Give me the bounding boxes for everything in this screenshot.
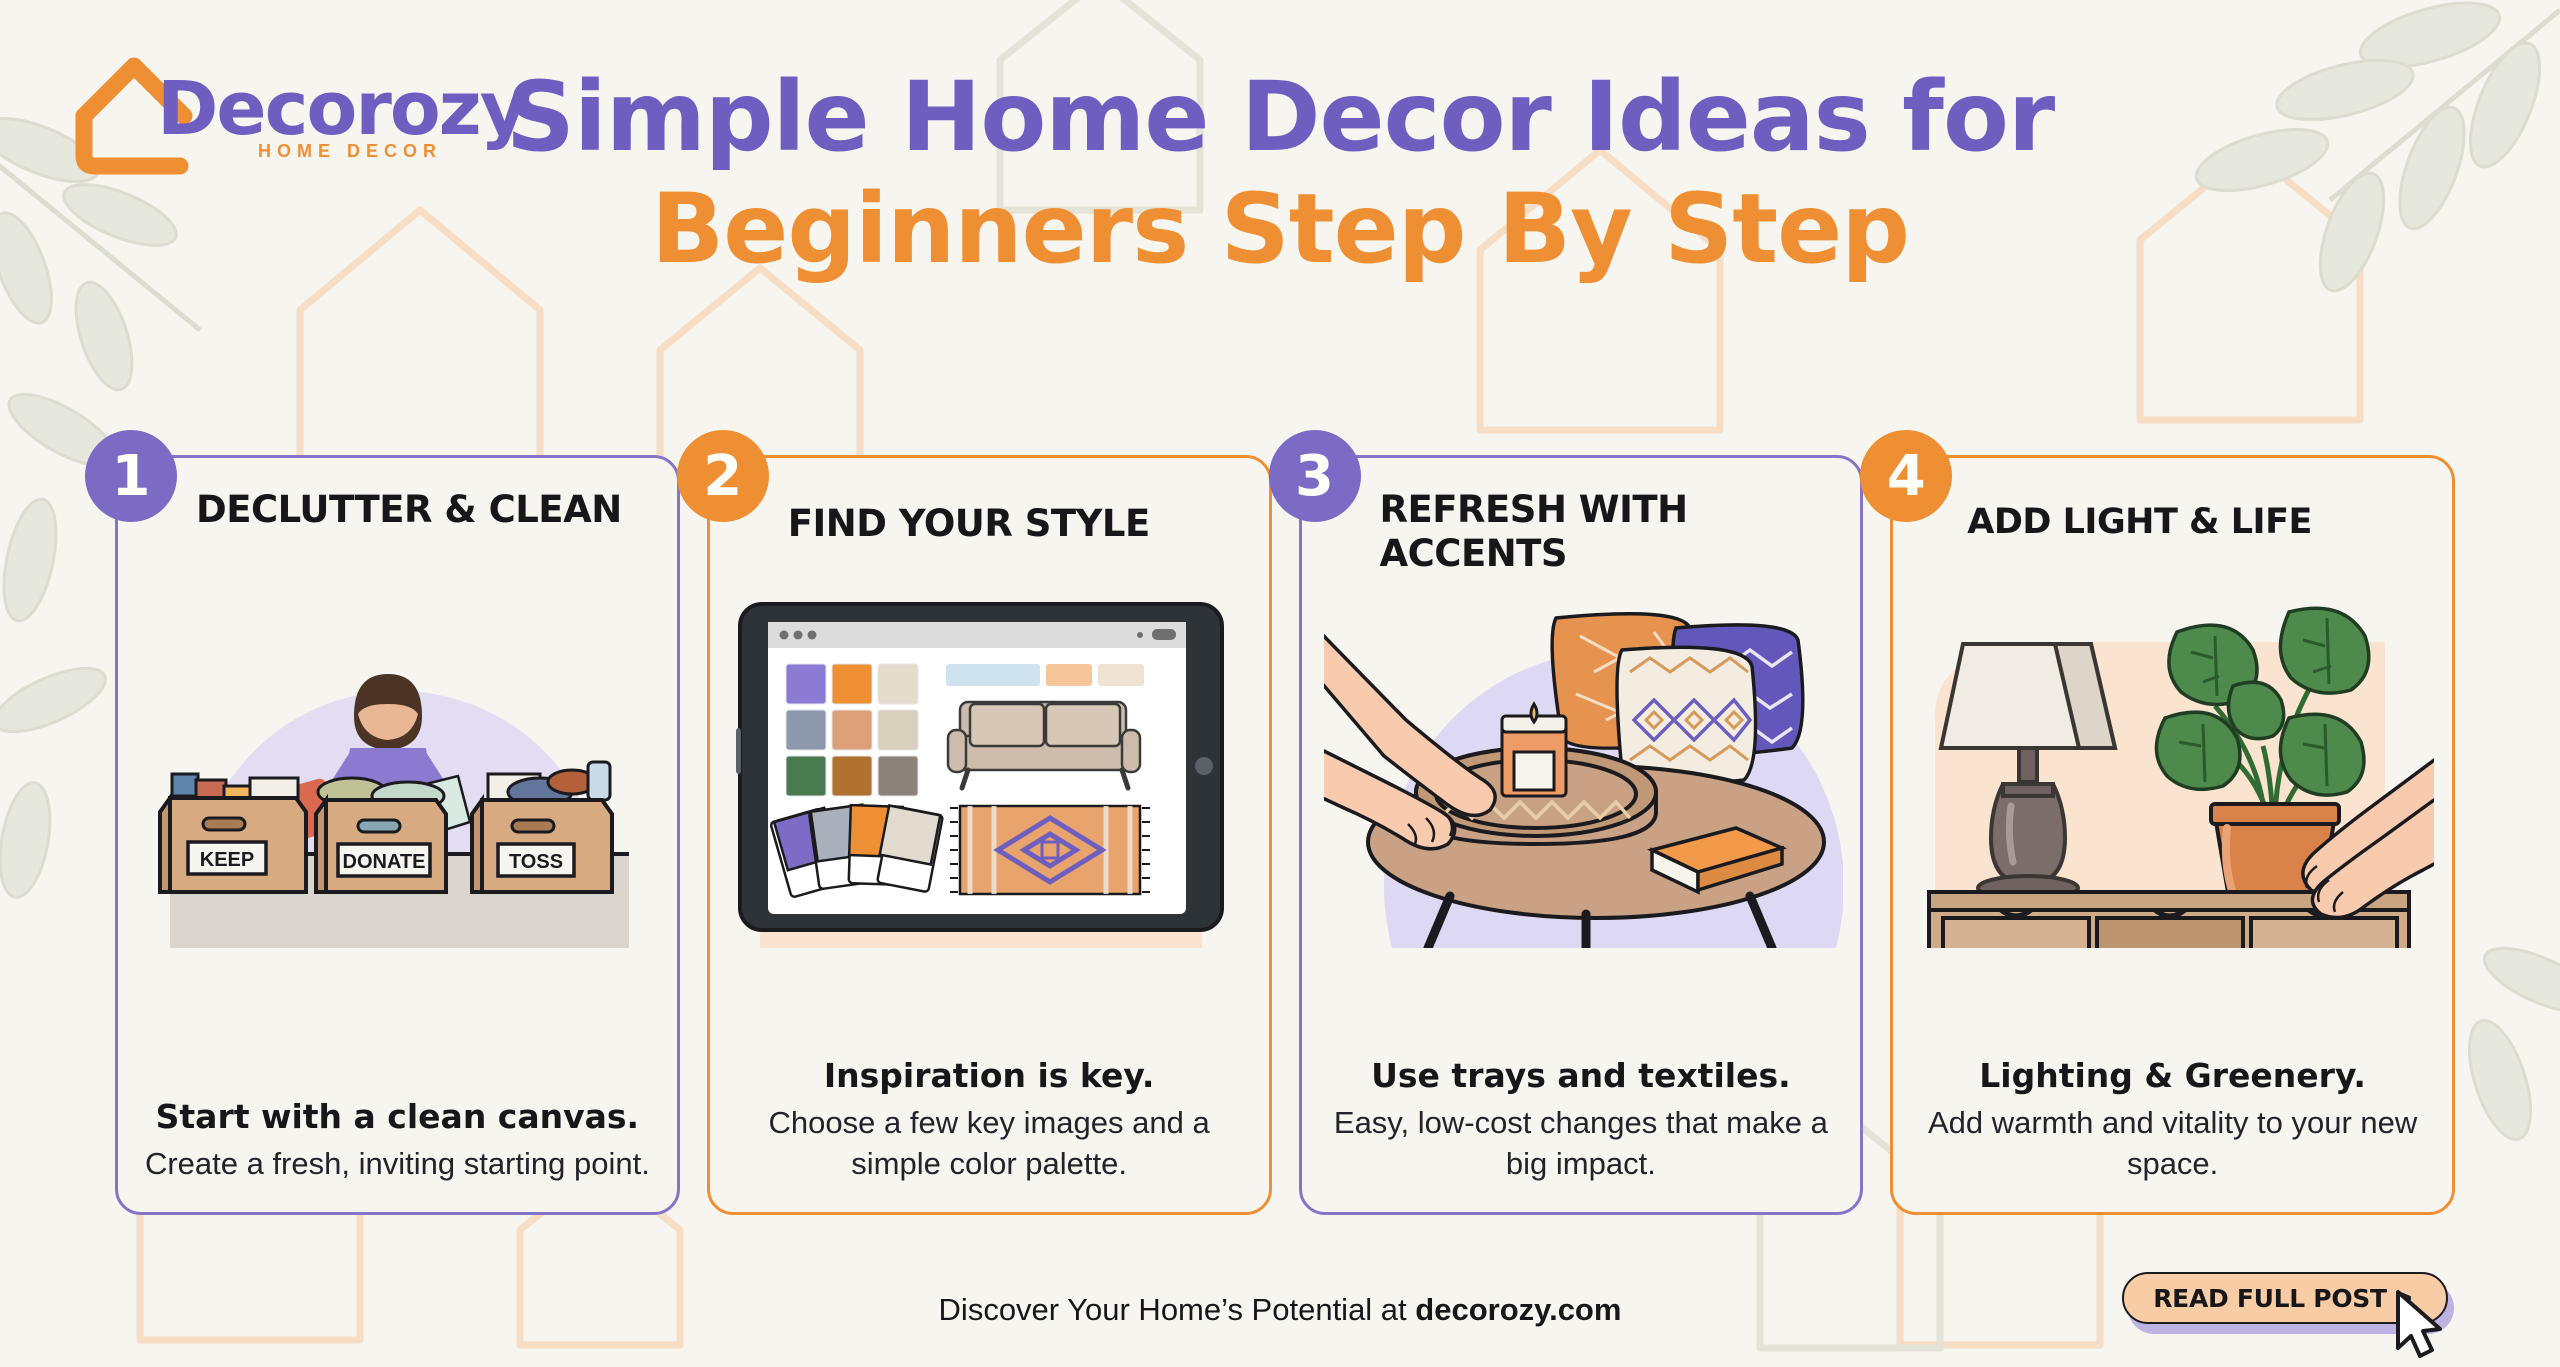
step-badge-3: 3 <box>1269 430 1361 522</box>
footer-prefix: Discover Your Home’s Potential at <box>939 1292 1416 1327</box>
header: Decorozy HOME DECOR Simple Home Decor Id… <box>0 0 2560 430</box>
box-label-keep: KEEP <box>200 849 254 871</box>
step-body-bold-2: Inspiration is key. <box>724 1056 1255 1095</box>
step-badge-1: 1 <box>85 430 177 522</box>
step-body-3: Use trays and textiles. Easy, low-cost c… <box>1316 1056 1847 1184</box>
page-title: Simple Home Decor Ideas for Beginners St… <box>0 66 2560 283</box>
step-body-bold-3: Use trays and textiles. <box>1316 1056 1847 1095</box>
step-badge-2: 2 <box>677 430 769 522</box>
step-title-1: DECLUTTER & CLEAN <box>196 488 659 532</box>
step-body-2: Inspiration is key. Choose a few key ima… <box>724 1056 1255 1184</box>
step-body-text-1: Create a fresh, inviting starting point. <box>132 1144 663 1184</box>
step-card-1[interactable]: 1 DECLUTTER & CLEAN <box>115 455 680 1215</box>
step-badge-4: 4 <box>1860 430 1952 522</box>
step-body-bold-4: Lighting & Greenery. <box>1907 1056 2438 1095</box>
box-label-toss: TOSS <box>509 851 563 873</box>
cursor-pointer-icon <box>2384 1286 2454 1366</box>
box-label-donate: DONATE <box>343 851 426 873</box>
step-body-text-3: Easy, low-cost changes that make a big i… <box>1316 1103 1847 1184</box>
step-title-3: REFRESH WITH ACCENTS <box>1380 488 1843 575</box>
title-line-1: Simple Home Decor Ideas for <box>0 66 2560 170</box>
tablet-moodboard-illustration <box>732 596 1251 948</box>
lamp-and-plant-illustration <box>1915 596 2434 948</box>
step-card-4[interactable]: 4 ADD LIGHT & LIFE <box>1890 455 2455 1215</box>
footer-domain: decorozy.com <box>1415 1292 1621 1327</box>
tray-and-pillows-illustration <box>1324 596 1843 948</box>
step-card-2[interactable]: 2 FIND YOUR STYLE <box>707 455 1272 1215</box>
step-body-bold-1: Start with a clean canvas. <box>132 1097 663 1136</box>
declutter-boxes-illustration: KEEP DONATE <box>140 596 659 948</box>
step-body-text-4: Add warmth and vitality to your new spac… <box>1907 1103 2438 1184</box>
title-line-2: Beginners Step By Step <box>0 176 2560 284</box>
cta-label: READ FULL POST <box>2153 1284 2387 1313</box>
step-title-4: ADD LIGHT & LIFE <box>1967 502 2434 543</box>
step-card-3[interactable]: 3 REFRESH WITH ACCENTS <box>1299 455 1864 1215</box>
step-title-2: FIND YOUR STYLE <box>788 502 1251 546</box>
step-body-text-2: Choose a few key images and a simple col… <box>724 1103 1255 1184</box>
step-body-4: Lighting & Greenery. Add warmth and vita… <box>1907 1056 2438 1184</box>
steps-card-row: 1 DECLUTTER & CLEAN <box>115 455 2455 1215</box>
step-body-1: Start with a clean canvas. Create a fres… <box>132 1097 663 1184</box>
read-full-post-button[interactable]: READ FULL POST <box>2122 1272 2452 1328</box>
